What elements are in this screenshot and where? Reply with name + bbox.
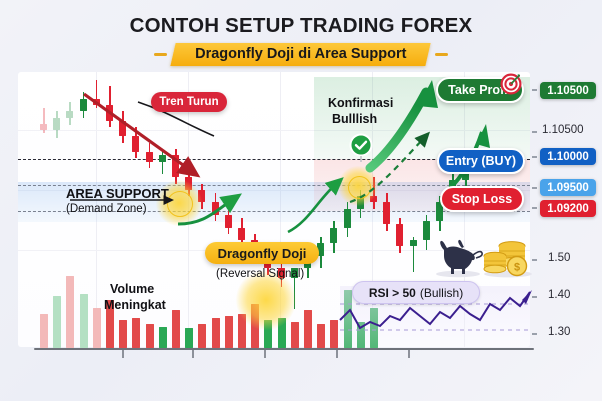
volume-bar [146, 324, 154, 348]
rsi-bullish-text: (Bullish) [420, 286, 463, 300]
volume-label-line1: Volume [110, 282, 154, 296]
take-profit-price: 1.10500 [540, 82, 596, 99]
volume-bar [159, 327, 167, 348]
rsi-label: RSI > 50 (Bullish) [352, 281, 480, 304]
bull-icon [432, 236, 484, 278]
volume-bar [330, 320, 338, 348]
volume-bar [119, 320, 127, 348]
x-axis-tick [122, 350, 124, 358]
price-tick [532, 89, 537, 91]
volume-bar [40, 314, 48, 348]
check-circle-icon [348, 132, 374, 162]
price-tick [532, 333, 537, 335]
banner-dash-left [154, 53, 167, 56]
rsi-threshold-text: RSI > 50 [369, 286, 416, 300]
price-axis-tick-3: 1.30 [548, 326, 570, 338]
x-axis-line [34, 348, 534, 350]
konfirmasi-label-line1: Konfirmasi [328, 96, 393, 110]
volume-bar [132, 318, 140, 348]
price-axis-tick-0: 1.10500 [542, 124, 584, 136]
volume-bar [66, 276, 74, 348]
entry-price: 1.10000 [540, 148, 596, 165]
subtitle-pill: Dragonfly Doji di Area Support [171, 43, 432, 66]
volume-bar [317, 324, 325, 348]
price-tick [532, 131, 537, 133]
x-axis-tick [408, 350, 410, 358]
infographic-root: CONTOH SETUP TRADING FOREX Dragonfly Doj… [0, 0, 602, 401]
volume-bar [225, 316, 233, 348]
volume-bar [93, 308, 101, 348]
volume-bar [53, 296, 61, 348]
volume-bar [291, 322, 299, 348]
x-axis-tick [192, 350, 194, 358]
subtitle-text: Dragonfly Doji di Area Support [195, 46, 406, 62]
reversal-signal-label: (Reversal Signal) [216, 268, 304, 280]
price-tick [532, 156, 537, 158]
coins-icon: $ [480, 234, 536, 278]
volume-bar [185, 328, 193, 348]
price-axis-tick-2: 1.40 [548, 289, 570, 301]
volume-label-line2: Meningkat [104, 298, 166, 312]
price-axis-tick-1: 1.50 [548, 252, 570, 264]
stop-loss-label[interactable]: Stop Loss [440, 186, 524, 212]
svg-text:$: $ [514, 262, 520, 274]
volume-bar [212, 318, 220, 348]
dragonfly-doji-label: Dragonfly Doji [205, 242, 319, 264]
support-price: 1.09500 [540, 179, 596, 196]
volume-bar [198, 324, 206, 348]
price-tick [532, 207, 537, 209]
x-axis-tick [336, 350, 338, 358]
stop-loss-price: 1.09200 [540, 200, 596, 217]
volume-bar [172, 310, 180, 348]
volume-bar [80, 294, 88, 348]
price-tick [532, 187, 537, 189]
price-tick [532, 296, 537, 298]
tren-turun-label: Tren Turun [151, 92, 227, 112]
page-title: CONTOH SETUP TRADING FOREX [0, 14, 602, 38]
volume-bar [304, 310, 312, 348]
subtitle-banner: Dragonfly Doji di Area Support [0, 42, 602, 66]
konfirmasi-label-line2: Bulllish [332, 112, 377, 126]
area-support-label: AREA SUPPORT [66, 186, 169, 201]
x-axis-tick [264, 350, 266, 358]
entry-label[interactable]: Entry (BUY) [437, 148, 525, 174]
demand-zone-label: (Demand Zone) [66, 203, 147, 215]
target-icon [500, 72, 522, 94]
banner-dash-right [435, 53, 448, 56]
